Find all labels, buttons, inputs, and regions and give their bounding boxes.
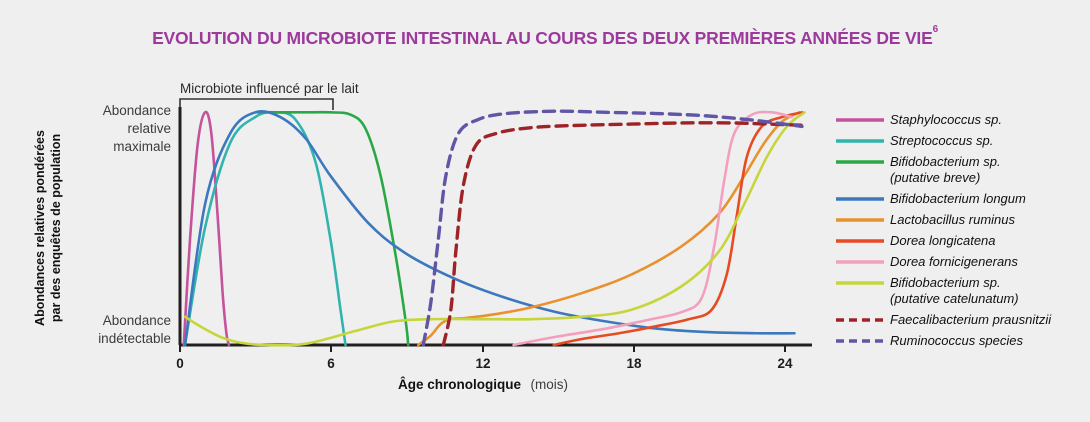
legend-label-faecalibacterium-prausnitzii[interactable]: Faecalibacterium prausnitzii [890,312,1052,327]
legend-label-bifidobacterium-sp-line2[interactable]: (putative catelunatum) [890,291,1019,306]
y-top-label-line2: relative [127,121,171,136]
x-tick-6: 6 [327,356,335,371]
milk-influence-bracket [180,99,333,110]
curve-bifidobacterium-sp-putative-breve [258,112,408,345]
curve-dorea-longicatena [554,112,802,345]
legend-label-streptococcus-sp[interactable]: Streptococcus sp. [890,133,993,148]
y-axis-title-line2: par des enquêtes de population [49,134,63,322]
curve-streptococcus-sp [185,112,345,345]
legend-label-dorea-fornicigenerans[interactable]: Dorea fornicigenerans [890,254,1018,269]
legend-label-bifidobacterium-sp-line2[interactable]: (putative breve) [890,170,980,185]
milk-annotation-label: Microbiote influencé par le lait [180,81,359,96]
x-axis-title-bold: Âge chronologique [398,377,521,392]
legend-label-ruminococcus-species[interactable]: Ruminococcus species [890,333,1023,348]
x-tick-24: 24 [777,356,793,371]
chart-svg: Abondances relatives pondérées par des e… [0,0,1090,422]
legend-label-bifidobacterium-sp[interactable]: Bifidobacterium sp. [890,154,1001,169]
x-axis-title: Âge chronologique (mois) [398,376,568,393]
y-top-label-line3: maximale [113,139,171,154]
x-tick-0: 0 [176,356,184,371]
x-tick-12: 12 [475,356,490,371]
curve-ruminococcus-species [423,111,802,345]
y-bottom-label-line2: indétectable [98,331,171,346]
y-top-label-line1: Abondance [103,103,171,118]
legend-label-staphylococcus-sp[interactable]: Staphylococcus sp. [890,112,1002,127]
y-bottom-label-line1: Abondance [103,313,171,328]
chart-area: Abondances relatives pondérées par des e… [0,0,1090,422]
curve-group [184,111,805,345]
legend: Staphylococcus sp.Streptococcus sp.Bifid… [836,112,1052,348]
legend-label-lactobacillus-ruminus[interactable]: Lactobacillus ruminus [890,212,1016,227]
y-axis-title-line1: Abondances relatives pondérées [33,130,47,326]
legend-label-bifidobacterium-sp[interactable]: Bifidobacterium sp. [890,275,1001,290]
legend-label-bifidobacterium-longum[interactable]: Bifidobacterium longum [890,191,1026,206]
legend-label-dorea-longicatena[interactable]: Dorea longicatena [890,233,996,248]
x-tick-18: 18 [626,356,642,371]
x-axis-title-normal: (mois) [530,377,568,392]
